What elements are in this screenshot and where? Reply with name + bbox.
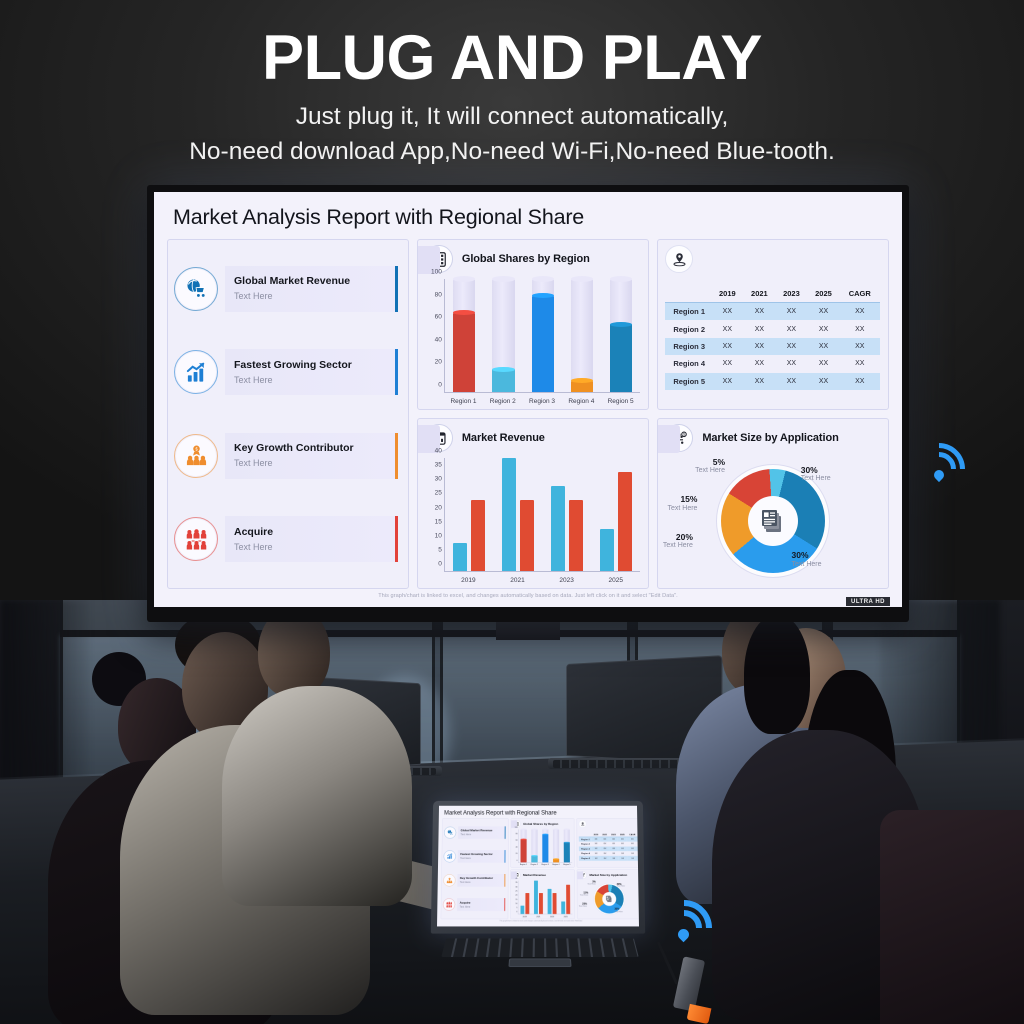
table-column-header: 2025 bbox=[807, 286, 839, 303]
donut-callout: 20%Text Here bbox=[579, 902, 587, 907]
y-axis-tick: 40 bbox=[515, 878, 517, 880]
table-cell: XX bbox=[840, 355, 880, 372]
table-cell: XX bbox=[775, 320, 807, 337]
x-axis-label: Region 5 bbox=[607, 398, 634, 405]
subheadline-line-1: Just plug it, It will connect automatica… bbox=[0, 100, 1024, 135]
location-pin-icon bbox=[665, 245, 693, 273]
feature-subtitle: Text Here bbox=[460, 833, 502, 836]
bar-value bbox=[453, 313, 475, 392]
table-cell: XX bbox=[840, 320, 880, 337]
panel-region-table: 2019202120232025CAGR Region 1XXXXXXXXXXR… bbox=[657, 239, 889, 410]
y-axis-tick: 60 bbox=[516, 840, 518, 842]
panel-header bbox=[658, 240, 888, 273]
svg-text:$: $ bbox=[195, 447, 198, 452]
donut-callout: 15%Text Here bbox=[580, 891, 588, 896]
feature-subtitle: Text Here bbox=[234, 291, 387, 301]
panel-region-table: 2019202120232025CAGR Region 1XXXXXXXXXXR… bbox=[577, 818, 639, 867]
table-row: Region 5XXXXXXXXXX bbox=[665, 373, 880, 390]
y-axis-tick: 5 bbox=[516, 907, 517, 909]
chart-market-revenue: 0510152025303540 2019202120232025 bbox=[418, 454, 648, 588]
donut-label: Text Here bbox=[587, 883, 595, 885]
bar-group bbox=[448, 458, 491, 571]
award-people-icon: $ bbox=[176, 436, 216, 476]
donut-callout: 30%Text Here bbox=[792, 550, 822, 569]
donut-label: Text Here bbox=[617, 885, 625, 887]
laptop-keyboard[interactable] bbox=[441, 938, 638, 957]
bar-group bbox=[546, 880, 558, 914]
feature-title: Fastest Growing Sector bbox=[234, 360, 387, 372]
table-corner-cell bbox=[665, 286, 711, 303]
y-axis-tick: 20 bbox=[515, 853, 517, 855]
feature-title: Global Market Revenue bbox=[234, 276, 387, 288]
donut-callout: 30%Text Here bbox=[614, 908, 622, 913]
table-cell: XX bbox=[807, 338, 839, 355]
bar-column bbox=[451, 279, 477, 392]
feature-title: Acquire bbox=[234, 527, 387, 539]
tv-stand bbox=[496, 622, 560, 640]
chart-market-size-by-application: 30%Text Here30%Text Here20%Text Here15%T… bbox=[577, 879, 639, 918]
table-header-row: 2019202120232025CAGR bbox=[665, 286, 880, 303]
y-axis-tick: 0 bbox=[438, 561, 442, 568]
x-axis-label: Region 5 bbox=[563, 864, 570, 866]
donut-label: Text Here bbox=[668, 505, 698, 512]
bar-value bbox=[553, 893, 557, 914]
donut-callout: 30%Text Here bbox=[801, 465, 831, 484]
x-axis-label: Region 3 bbox=[529, 398, 556, 405]
feature-body: Acquire Text Here bbox=[457, 898, 505, 911]
bar-value bbox=[542, 834, 548, 862]
table-row: Region 4XXXXXXXXXX bbox=[665, 355, 880, 372]
bar-column bbox=[531, 829, 538, 862]
panel-header: Global Shares by Region bbox=[511, 819, 574, 828]
bar-column bbox=[529, 279, 555, 392]
table-cell: XX bbox=[592, 856, 601, 861]
slide-footnote: This graph/chart is linked to excel, and… bbox=[167, 589, 889, 601]
table-cell: XX bbox=[711, 338, 743, 355]
bar-value bbox=[553, 859, 559, 862]
panel-title: Market Size by Application bbox=[589, 873, 627, 876]
feature-subtitle: Text Here bbox=[460, 905, 502, 908]
table-cell: XX bbox=[627, 856, 638, 861]
table-cell: XX bbox=[807, 355, 839, 372]
right-column: 2019202120232025CAGR Region 1XXXXXXXXXXR… bbox=[657, 239, 889, 589]
table-row-label: Region 5 bbox=[665, 373, 711, 390]
y-axis-tick: 40 bbox=[435, 336, 442, 343]
x-axis-label: Region 4 bbox=[568, 398, 595, 405]
panel-title: Market Size by Application bbox=[702, 432, 838, 444]
bar-value bbox=[539, 893, 543, 914]
donut-label: Text Here bbox=[801, 475, 831, 482]
presentation-slide: Market Analysis Report with Regional Sha… bbox=[154, 192, 902, 607]
bar-value bbox=[534, 880, 538, 914]
table-row-label: Region 2 bbox=[665, 320, 711, 337]
plot-area: 0510152025303540 bbox=[444, 458, 640, 572]
donut-percent: 30% bbox=[801, 465, 831, 476]
bar-group bbox=[519, 880, 531, 914]
cart-globe-icon bbox=[176, 269, 216, 309]
bar-column bbox=[490, 279, 516, 392]
table-column-header: 2019 bbox=[711, 286, 743, 303]
right-column: 2019202120232025CAGR Region 1XXXXXXXXXXR… bbox=[577, 818, 639, 919]
award-people-icon: $ bbox=[444, 875, 455, 886]
headline-block: PLUG AND PLAY Just plug it, It will conn… bbox=[0, 26, 1024, 170]
feature-body: Acquire Text Here bbox=[225, 516, 398, 562]
table-row: Region 3XXXXXXXXXX bbox=[665, 338, 880, 355]
feature-body: Key Growth Contributor Text Here bbox=[457, 874, 505, 887]
table-body: Region 1XXXXXXXXXXRegion 2XXXXXXXXXXRegi… bbox=[665, 303, 880, 390]
y-axis-tick: 10 bbox=[435, 532, 442, 539]
x-axis-label: 2021 bbox=[496, 577, 539, 584]
bar-value bbox=[525, 893, 529, 914]
feature-title: Key Growth Contributor bbox=[234, 443, 387, 455]
panel-header: Market Revenue bbox=[511, 870, 575, 880]
y-axis-tick: 5 bbox=[438, 546, 442, 553]
y-axis-tick: 40 bbox=[435, 448, 442, 455]
feature-title: Key Growth Contributor bbox=[460, 877, 502, 880]
slide-body: Global Market Revenue Text Here bbox=[167, 239, 889, 589]
x-axis-label: 2025 bbox=[560, 916, 572, 918]
y-axis-tick: 25 bbox=[435, 490, 442, 497]
bar-value bbox=[564, 842, 570, 862]
bar-value bbox=[521, 839, 527, 862]
feature-item-acquire[interactable]: Acquire Text Here bbox=[176, 513, 398, 565]
laptop-lid: Market Analysis Report with Regional Sha… bbox=[431, 801, 645, 934]
y-axis-tick: 20 bbox=[435, 359, 442, 366]
bar-value bbox=[600, 529, 614, 571]
table-cell: XX bbox=[775, 355, 807, 372]
table-row: Region 5XXXXXXXXXX bbox=[579, 856, 638, 861]
feature-subtitle: Text Here bbox=[234, 542, 387, 552]
table-cell: XX bbox=[807, 373, 839, 390]
table-cell: XX bbox=[775, 373, 807, 390]
bar-group bbox=[560, 880, 572, 914]
bar-value bbox=[551, 486, 565, 571]
panel-header: $ Market Size by Application bbox=[658, 419, 888, 454]
table-cell: XX bbox=[775, 338, 807, 355]
x-axis-label: Region 2 bbox=[490, 398, 517, 405]
feature-subtitle: Text Here bbox=[234, 458, 387, 468]
feature-body: Global Market Revenue Text Here bbox=[458, 826, 506, 839]
bar-value bbox=[502, 458, 516, 571]
panel-title: Global Shares by Region bbox=[462, 253, 590, 265]
plot-area: 0510152025303540 bbox=[518, 880, 573, 914]
bar-value bbox=[566, 885, 570, 914]
plot-area: 020406080100 bbox=[518, 829, 572, 862]
region-table: 2019202120232025CAGR Region 1XXXXXXXXXXR… bbox=[579, 832, 638, 860]
feature-title: Global Market Revenue bbox=[461, 829, 503, 832]
chart-global-shares-by-region: 020406080100 Region 1Region 2Region 3Reg… bbox=[418, 275, 648, 409]
feature-item-fastest-growing-sector[interactable]: Fastest Growing Sector Text Here bbox=[176, 346, 398, 398]
x-axis-label: 2025 bbox=[594, 577, 637, 584]
y-axis-tick: 20 bbox=[515, 894, 517, 896]
bar-value bbox=[618, 472, 632, 571]
donut-callout: 30%Text Here bbox=[617, 883, 625, 888]
x-axis-label: Region 1 bbox=[450, 398, 477, 405]
table-row-label: Region 1 bbox=[665, 303, 711, 321]
table-row: Region 1XXXXXXXXXX bbox=[665, 303, 880, 321]
plot-area: 020406080100 bbox=[444, 279, 640, 393]
donut-label: Text Here bbox=[695, 467, 725, 474]
table-row-label: Region 3 bbox=[665, 338, 711, 355]
bar-value bbox=[531, 856, 537, 863]
x-axis-label: 2019 bbox=[447, 577, 490, 584]
donut-label: Text Here bbox=[792, 561, 822, 568]
donut-percent: 15% bbox=[668, 494, 698, 505]
growth-chart-icon bbox=[444, 851, 455, 862]
panel-header: Market Revenue bbox=[418, 419, 648, 454]
y-axis-tick: 30 bbox=[515, 886, 517, 888]
feature-body: Key Growth Contributor Text Here bbox=[225, 433, 398, 479]
feature-body: Fastest Growing Sector Text Here bbox=[225, 349, 398, 395]
table-row-label: Region 5 bbox=[579, 856, 592, 861]
bar-column bbox=[520, 829, 527, 862]
slide-title: Market Analysis Report with Regional Sha… bbox=[173, 205, 889, 230]
donut-label: Text Here bbox=[663, 542, 693, 549]
feature-subtitle: Text Here bbox=[460, 857, 502, 860]
bar-column bbox=[569, 279, 595, 392]
ultra-hd-badge: ULTRA HD bbox=[846, 597, 890, 606]
table-cell: XX bbox=[807, 320, 839, 337]
y-axis-tick: 15 bbox=[515, 898, 517, 900]
table-row: Region 2XXXXXXXXXX bbox=[665, 320, 880, 337]
table-cell: XX bbox=[840, 373, 880, 390]
laptop-trackpad[interactable] bbox=[508, 959, 571, 968]
feature-column: Global Market Revenue Text Here bbox=[441, 818, 509, 919]
y-axis-tick: 80 bbox=[435, 291, 442, 298]
slide-body: Global Market Revenue Text Here bbox=[441, 818, 639, 919]
feature-item-global-market-revenue[interactable]: Global Market Revenue Text Here bbox=[444, 825, 505, 839]
feature-body: Fastest Growing Sector Text Here bbox=[458, 850, 506, 863]
x-axis-label: Region 4 bbox=[552, 864, 559, 866]
bar-column bbox=[563, 829, 570, 862]
donut-percent: 30% bbox=[792, 550, 822, 561]
mirrored-slide: Market Analysis Report with Regional Sha… bbox=[437, 806, 639, 924]
table-cell: XX bbox=[601, 856, 610, 861]
table-row-label: Region 4 bbox=[665, 355, 711, 372]
table-cell: XX bbox=[711, 373, 743, 390]
chart-market-revenue: 0510152025303540 2019202120232025 bbox=[511, 879, 575, 918]
y-axis-tick: 0 bbox=[516, 911, 517, 913]
feature-item-acquire[interactable]: Acquire Text Here bbox=[443, 897, 505, 911]
bar-group bbox=[533, 880, 545, 914]
people-network-icon bbox=[443, 899, 454, 910]
laptop-screen: Market Analysis Report with Regional Sha… bbox=[437, 806, 639, 927]
donut-callout: 15%Text Here bbox=[668, 494, 698, 513]
table-column-header: 2021 bbox=[743, 286, 775, 303]
middle-column: Global Shares by Region 020406080100 Reg… bbox=[417, 239, 649, 589]
feature-subtitle: Text Here bbox=[234, 375, 387, 385]
y-axis-tick: 100 bbox=[515, 826, 518, 828]
feature-subtitle: Text Here bbox=[460, 881, 502, 884]
y-axis-tick: 20 bbox=[435, 504, 442, 511]
table-body: Region 1XXXXXXXXXXRegion 2XXXXXXXXXXRegi… bbox=[579, 837, 638, 861]
donut-label: Text Here bbox=[580, 894, 588, 896]
y-axis-tick: 35 bbox=[515, 882, 517, 884]
feature-item-fastest-growing-sector[interactable]: Fastest Growing Sector Text Here bbox=[444, 849, 505, 863]
foreground-laptop: Market Analysis Report with Regional Sha… bbox=[432, 800, 648, 983]
table-column-header: 2023 bbox=[775, 286, 807, 303]
bar-value bbox=[610, 324, 632, 392]
panel-market-size-by-application: $ Market Size by Application bbox=[657, 418, 889, 589]
location-pin-icon bbox=[579, 820, 587, 828]
panel-title: Market Revenue bbox=[523, 873, 546, 876]
bar-value bbox=[520, 500, 534, 571]
x-axis-label: 2021 bbox=[532, 916, 544, 918]
y-axis-tick: 10 bbox=[515, 903, 517, 905]
wifi-icon bbox=[656, 900, 714, 946]
feature-title: Acquire bbox=[460, 901, 502, 904]
bar-value bbox=[532, 296, 554, 392]
table-cell: XX bbox=[609, 856, 618, 861]
table-cell: XX bbox=[807, 303, 839, 321]
table-cell: XX bbox=[618, 856, 627, 861]
table-cell: XX bbox=[840, 338, 880, 355]
x-axis-label: 2019 bbox=[519, 916, 531, 918]
feature-title: Fastest Growing Sector bbox=[460, 853, 502, 856]
table-cell: XX bbox=[743, 303, 775, 321]
table-cell: XX bbox=[711, 355, 743, 372]
laptop-deck bbox=[423, 935, 658, 970]
donut-percent: 5% bbox=[695, 457, 725, 468]
donut-label: Text Here bbox=[579, 905, 587, 907]
bar-value bbox=[520, 906, 524, 914]
bar-value bbox=[492, 369, 514, 392]
tv-screen: Market Analysis Report with Regional Sha… bbox=[154, 192, 902, 607]
y-axis-tick: 25 bbox=[515, 890, 517, 892]
bar-group bbox=[546, 458, 589, 571]
donut-callout: 5%Text Here bbox=[695, 457, 725, 476]
middle-column: Global Shares by Region 020406080100 Reg… bbox=[510, 818, 575, 919]
panel-header: $ Market Size by Application bbox=[577, 870, 639, 880]
chart-market-size-by-application: 30%Text Here30%Text Here20%Text Here15%T… bbox=[658, 454, 888, 588]
panel-global-shares-by-region: Global Shares by Region 020406080100 Reg… bbox=[511, 818, 575, 867]
bar-value bbox=[471, 500, 485, 571]
chart-global-shares-by-region: 020406080100 Region 1Region 2Region 3Reg… bbox=[511, 828, 575, 867]
donut-callout: 20%Text Here bbox=[663, 532, 693, 551]
panel-title: Global Shares by Region bbox=[523, 822, 558, 825]
slide-footnote: This graph/chart is linked to excel, and… bbox=[441, 919, 639, 922]
bar-value bbox=[453, 543, 467, 571]
panel-title: Market Revenue bbox=[462, 432, 545, 444]
bar-column bbox=[552, 829, 559, 862]
panel-market-revenue: Market Revenue 0510152025303540 20192021… bbox=[510, 869, 575, 919]
panel-market-size-by-application: $ Market Size by Application bbox=[577, 869, 639, 919]
bar-column bbox=[608, 279, 634, 392]
growth-chart-icon bbox=[176, 352, 216, 392]
panel-global-shares-by-region: Global Shares by Region 020406080100 Reg… bbox=[417, 239, 649, 410]
y-axis-tick: 15 bbox=[435, 518, 442, 525]
table-cell: XX bbox=[775, 303, 807, 321]
document-icon bbox=[760, 508, 786, 534]
feature-list: Global Market Revenue Text Here bbox=[441, 818, 509, 919]
table-cell: XX bbox=[743, 338, 775, 355]
feature-body: Global Market Revenue Text Here bbox=[225, 266, 398, 312]
x-axis-label: Region 3 bbox=[541, 864, 548, 866]
bar-value bbox=[569, 500, 583, 571]
y-axis-tick: 40 bbox=[516, 846, 518, 848]
y-axis-tick: 0 bbox=[438, 382, 442, 389]
svg-text:$: $ bbox=[449, 878, 450, 880]
y-axis-tick: 30 bbox=[435, 476, 442, 483]
x-axis-label: 2023 bbox=[545, 577, 588, 584]
table-cell: XX bbox=[743, 355, 775, 372]
bar-value bbox=[571, 381, 593, 392]
document-icon bbox=[606, 895, 613, 902]
y-axis-tick: 80 bbox=[516, 833, 518, 835]
panel-header: Global Shares by Region bbox=[418, 240, 648, 275]
feature-item-key-growth-contributor[interactable]: $ Key Growth Contributor Te bbox=[444, 873, 506, 887]
subheadline-line-2: No-need download App,No-need Wi-Fi,No-ne… bbox=[0, 135, 1024, 170]
region-table-wrapper: 2019202120232025CAGR Region 1XXXXXXXXXXR… bbox=[658, 273, 888, 409]
panel-market-revenue: Market Revenue 0510152025303540 20192021… bbox=[417, 418, 649, 589]
table-cell: XX bbox=[743, 320, 775, 337]
donut-callout: 5%Text Here bbox=[587, 880, 595, 885]
donut-percent: 20% bbox=[663, 532, 693, 543]
region-table-wrapper: 2019202120232025CAGR Region 1XXXXXXXXXXR… bbox=[577, 828, 639, 867]
table-cell: XX bbox=[743, 373, 775, 390]
feature-item-global-market-revenue[interactable]: Global Market Revenue Text Here bbox=[176, 263, 398, 315]
promo-image: PLUG AND PLAY Just plug it, It will conn… bbox=[0, 0, 1024, 1024]
people-network-icon bbox=[176, 519, 216, 559]
feature-column: Global Market Revenue Text Here bbox=[167, 239, 409, 589]
table-cell: XX bbox=[840, 303, 880, 321]
bar-value bbox=[561, 901, 565, 914]
y-axis-tick: 35 bbox=[435, 462, 442, 469]
wall-mounted-tv: Market Analysis Report with Regional Sha… bbox=[147, 185, 909, 622]
table-cell: XX bbox=[711, 320, 743, 337]
bar-value bbox=[548, 889, 552, 914]
x-axis-label: Region 2 bbox=[531, 864, 538, 866]
y-axis-tick: 60 bbox=[435, 314, 442, 321]
cart-globe-icon bbox=[445, 827, 456, 838]
bar-group bbox=[497, 458, 540, 571]
usb-dongle bbox=[660, 944, 720, 1024]
slide-title: Market Analysis Report with Regional Sha… bbox=[444, 809, 639, 816]
bar-group bbox=[594, 458, 637, 571]
svg-text:$: $ bbox=[683, 432, 685, 436]
y-axis-tick: 100 bbox=[431, 269, 442, 276]
donut-center bbox=[748, 496, 798, 546]
page-title: PLUG AND PLAY bbox=[0, 26, 1024, 90]
donut-label: Text Here bbox=[615, 911, 623, 913]
panel-header bbox=[577, 819, 639, 828]
bar-column bbox=[542, 829, 549, 862]
feature-item-key-growth-contributor[interactable]: $ Key Growth Contributor Te bbox=[176, 430, 398, 482]
table-column-header: CAGR bbox=[840, 286, 880, 303]
feature-list: Global Market Revenue Text Here bbox=[167, 239, 409, 589]
x-axis-label: 2023 bbox=[546, 916, 558, 918]
table-cell: XX bbox=[711, 303, 743, 321]
presentation-slide: Market Analysis Report with Regional Sha… bbox=[437, 806, 639, 924]
region-table: 2019202120232025CAGR Region 1XXXXXXXXXXR… bbox=[665, 286, 880, 390]
y-axis-tick: 0 bbox=[516, 859, 517, 861]
donut-center bbox=[602, 892, 616, 906]
wifi-icon bbox=[913, 443, 967, 485]
x-axis-label: Region 1 bbox=[520, 864, 527, 866]
